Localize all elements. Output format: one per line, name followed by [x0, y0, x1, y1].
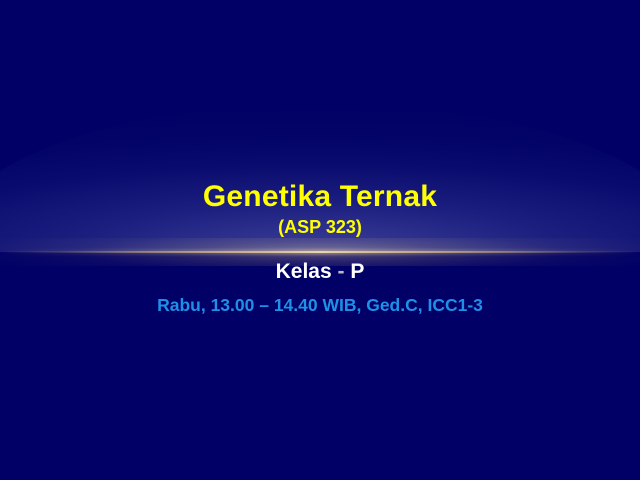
slide-subtitle-course-code: (ASP 323)	[0, 216, 640, 238]
class-label: Kelas	[276, 260, 332, 283]
slide-content: Genetika Ternak (ASP 323) Kelas - P Rabu…	[0, 0, 640, 480]
class-value: P	[350, 260, 364, 283]
slide-title: Genetika Ternak	[0, 180, 640, 214]
class-separator: -	[338, 260, 345, 283]
class-line: Kelas - P	[0, 259, 640, 285]
presentation-slide: Genetika Ternak (ASP 323) Kelas - P Rabu…	[0, 0, 640, 480]
schedule-line: Rabu, 13.00 – 14.40 WIB, Ged.C, ICC1-3	[0, 294, 640, 316]
